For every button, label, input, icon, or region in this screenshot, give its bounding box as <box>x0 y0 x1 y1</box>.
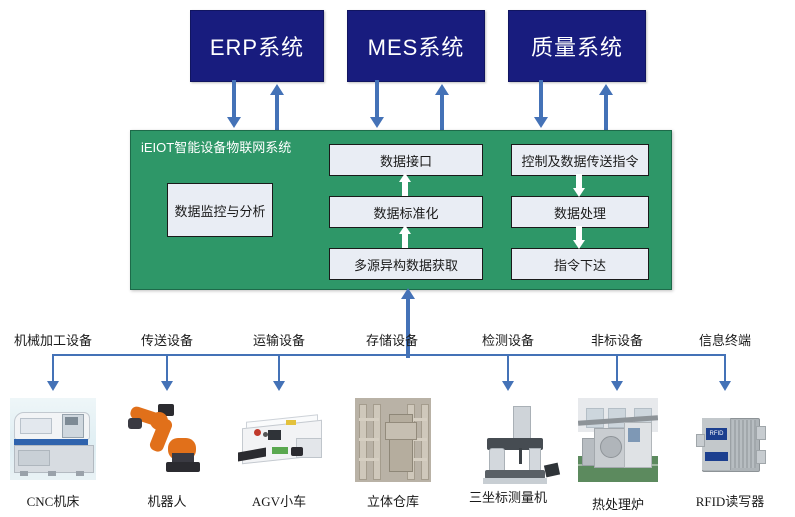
device-image-robot <box>128 398 208 480</box>
platform-box-data-interface[interactable]: 数据接口 <box>329 144 483 176</box>
arrow-devices-to-platform-head <box>401 288 415 299</box>
category-label-storage: 存储设备 <box>347 330 437 349</box>
iot-platform-panel: iEIOT智能设备物联网系统 数据监控与分析 数据接口 数据标准化 多源异构数据… <box>130 130 672 290</box>
device-image-agv <box>234 398 326 480</box>
device-name-cnc: CNC机床 <box>8 491 98 510</box>
system-box-mes[interactable]: MES系统 <box>347 10 485 82</box>
platform-arrow-up-1-shaft <box>402 181 408 196</box>
device-name-agv: AGV小车 <box>234 491 324 510</box>
platform-box-data-processing[interactable]: 数据处理 <box>511 196 649 228</box>
device-name-warehouse: 立体仓库 <box>348 491 438 510</box>
device-image-rfid: RFID <box>688 400 772 480</box>
device-image-furnace <box>578 398 658 482</box>
arrow-erp-down-head <box>227 117 241 128</box>
arrow-quality-up-head <box>599 84 613 95</box>
system-box-mes-label: MES系统 <box>368 30 465 62</box>
arrow-erp-up-head <box>270 84 284 95</box>
device-image-cnc <box>10 398 96 480</box>
device-image-cmm <box>473 398 563 484</box>
drop-arrow-conveying <box>161 381 173 391</box>
platform-box-control-command[interactable]: 控制及数据传送指令 <box>511 144 649 176</box>
platform-arrow-down-2-head <box>573 240 585 249</box>
category-label-inspection: 检测设备 <box>463 330 553 349</box>
platform-box-data-interface-label: 数据接口 <box>380 151 432 170</box>
category-label-transport: 运输设备 <box>234 330 324 349</box>
arrow-mes-down-shaft <box>375 80 379 118</box>
device-name-robot: 机器人 <box>124 491 210 510</box>
device-bus-line <box>53 354 726 356</box>
diagram-canvas: ERP系统 MES系统 质量系统 iEIOT智能设备物联网系统 数据监控与分析 … <box>0 0 795 517</box>
arrow-quality-down-head <box>534 117 548 128</box>
drop-line-conveying <box>166 354 168 383</box>
drop-arrow-nonstandard <box>611 381 623 391</box>
drop-arrow-machining <box>47 381 59 391</box>
platform-arrow-up-1-head <box>399 173 411 182</box>
arrow-quality-up-shaft <box>604 94 608 130</box>
system-box-quality[interactable]: 质量系统 <box>508 10 646 82</box>
platform-box-control-command-label: 控制及数据传送指令 <box>521 151 638 170</box>
category-label-nonstandard: 非标设备 <box>572 330 662 349</box>
platform-arrow-up-2-head <box>399 225 411 234</box>
platform-arrow-down-1-shaft <box>576 174 582 189</box>
platform-arrow-up-2-shaft <box>402 233 408 248</box>
drop-line-machining <box>52 354 54 383</box>
platform-box-monitoring[interactable]: 数据监控与分析 <box>167 183 273 237</box>
platform-box-data-processing-label: 数据处理 <box>554 203 606 222</box>
arrow-quality-down-shaft <box>539 80 543 118</box>
device-name-furnace: 热处理炉 <box>574 494 662 513</box>
category-label-machining: 机械加工设备 <box>0 330 106 349</box>
drop-arrow-terminal <box>719 381 731 391</box>
platform-box-command-dispatch-label: 指令下达 <box>554 255 606 274</box>
arrow-devices-to-platform-shaft <box>406 298 410 358</box>
platform-arrow-down-2-shaft <box>576 226 582 241</box>
drop-line-transport <box>278 354 280 383</box>
platform-box-data-standardization-label: 数据标准化 <box>373 203 438 222</box>
system-box-erp[interactable]: ERP系统 <box>190 10 324 82</box>
device-name-rfid: RFID读写器 <box>680 491 780 510</box>
drop-arrow-inspection <box>502 381 514 391</box>
platform-box-data-acquisition-label: 多源异构数据获取 <box>354 255 458 274</box>
platform-box-data-standardization[interactable]: 数据标准化 <box>329 196 483 228</box>
device-name-cmm: 三坐标测量机 <box>452 487 564 506</box>
arrow-mes-up-shaft <box>440 94 444 130</box>
platform-box-data-acquisition[interactable]: 多源异构数据获取 <box>329 248 483 280</box>
arrow-erp-up-shaft <box>275 94 279 130</box>
platform-box-command-dispatch[interactable]: 指令下达 <box>511 248 649 280</box>
category-label-terminal: 信息终端 <box>683 330 767 349</box>
drop-line-inspection <box>507 354 509 383</box>
drop-line-terminal <box>724 354 726 383</box>
platform-title: iEIOT智能设备物联网系统 <box>141 137 291 156</box>
device-image-warehouse <box>355 398 431 482</box>
platform-arrow-down-1-head <box>573 188 585 197</box>
drop-line-nonstandard <box>616 354 618 383</box>
arrow-erp-down-shaft <box>232 80 236 118</box>
platform-box-monitoring-label: 数据监控与分析 <box>174 201 265 220</box>
arrow-mes-up-head <box>435 84 449 95</box>
system-box-erp-label: ERP系统 <box>210 30 304 62</box>
rfid-badge-label: RFID <box>706 428 727 440</box>
system-box-quality-label: 质量系统 <box>531 30 623 62</box>
drop-arrow-transport <box>273 381 285 391</box>
arrow-mes-down-head <box>370 117 384 128</box>
category-label-conveying: 传送设备 <box>122 330 212 349</box>
